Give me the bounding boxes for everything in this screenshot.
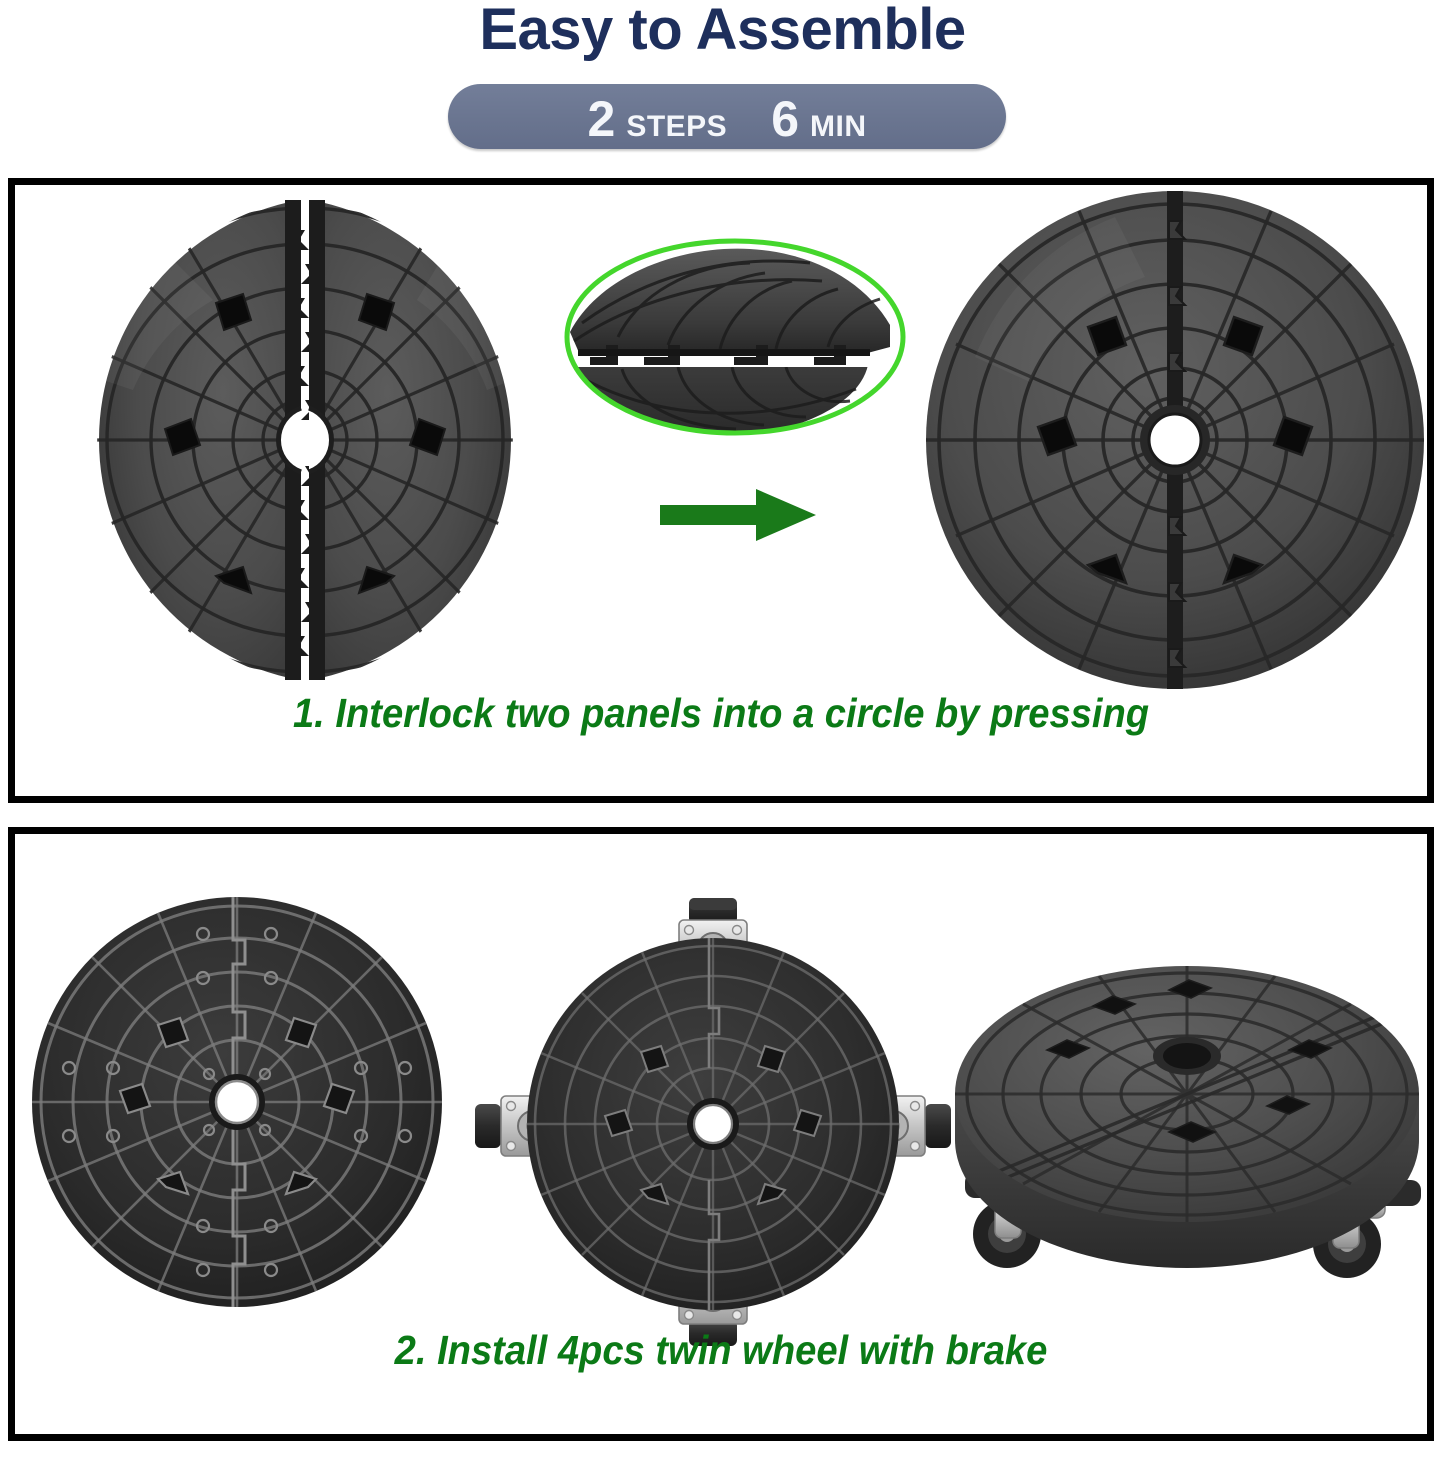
finished-caddy-3d — [947, 944, 1437, 1304]
assembled-disc — [915, 187, 1435, 697]
time-unit-label: MIN — [810, 112, 867, 142]
steps-count: 2 — [588, 94, 616, 144]
time-count: 6 — [771, 94, 799, 144]
step-1-panel: 1. Interlock two panels into a circle by… — [8, 178, 1434, 803]
status-badge: 2 STEPS 6 MIN — [448, 84, 1006, 149]
page-title: Easy to Assemble — [0, 0, 1445, 62]
assembly-arrow — [660, 485, 820, 545]
disc-underside — [27, 892, 447, 1312]
left-half-panel — [13, 190, 313, 690]
disc-with-casters — [453, 862, 973, 1382]
step-1-caption: 1. Interlock two panels into a circle by… — [64, 690, 1377, 736]
step-2-caption: 2. Install 4pcs twin wheel with brake — [64, 1327, 1377, 1373]
steps-unit-label: STEPS — [626, 112, 727, 142]
interlock-detail-inset — [560, 237, 910, 447]
header: Easy to Assemble 2 STEPS 6 MIN — [0, 0, 1445, 172]
right-half-panel — [297, 190, 597, 690]
infographic-page: Easy to Assemble 2 STEPS 6 MIN — [0, 0, 1445, 1457]
step-2-panel: 2. Install 4pcs twin wheel with brake — [8, 827, 1434, 1441]
